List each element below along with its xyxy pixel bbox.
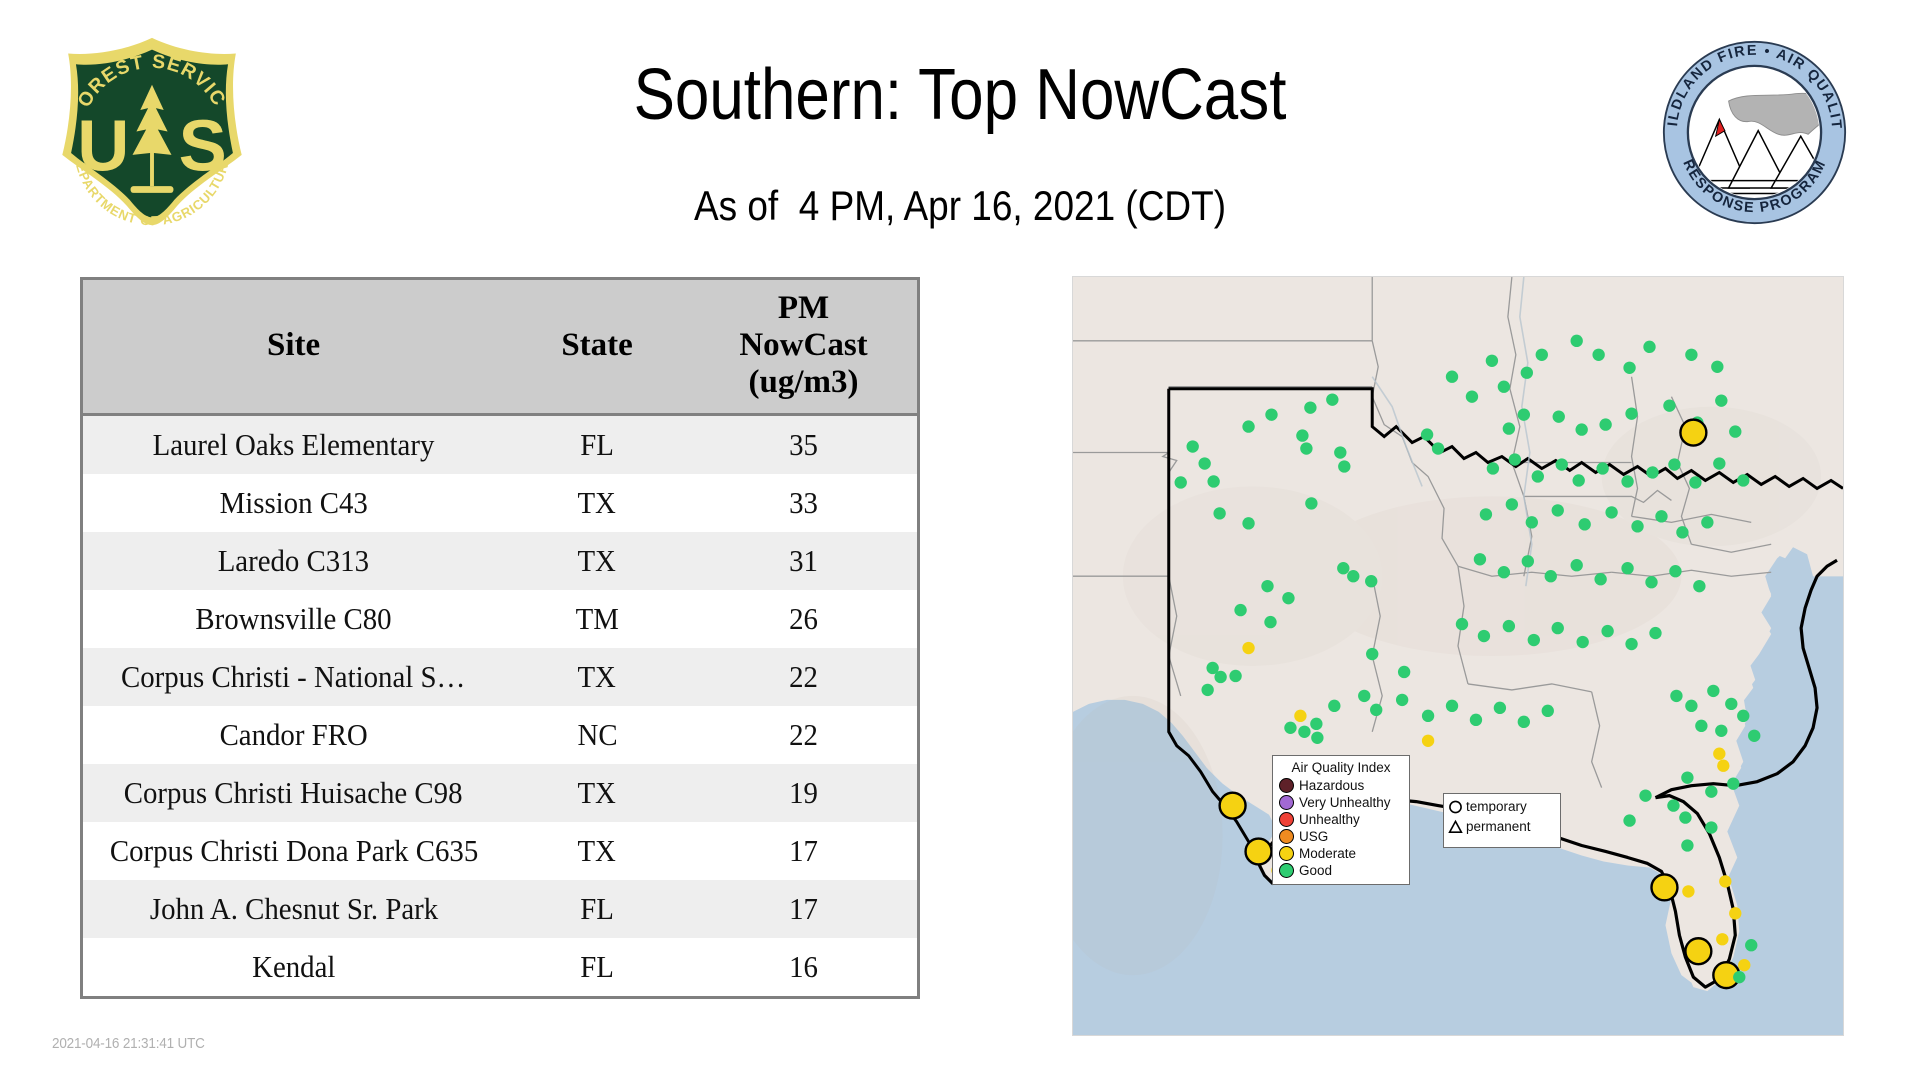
legend-temporary-label: temporary [1466, 800, 1527, 814]
aqi-legend-title: Air Quality Index [1279, 760, 1403, 775]
monitor-dot[interactable] [1737, 710, 1749, 722]
table-row: John A. Chesnut Sr. ParkFL17 [82, 880, 919, 938]
monitor-dot[interactable] [1242, 642, 1254, 654]
monitor-dot[interactable] [1532, 470, 1544, 482]
site-cell: Laredo C313 [82, 532, 505, 590]
aqi-legend-row: Good [1279, 862, 1403, 879]
monitor-dot[interactable] [1553, 410, 1565, 422]
monitor-dot[interactable] [1298, 726, 1310, 738]
page-subtitle: As of 4 PM, Apr 16, 2021 (CDT) [414, 182, 1505, 230]
monitor-dot[interactable] [1347, 570, 1359, 582]
monitor-dot[interactable] [1556, 458, 1568, 470]
monitor-dot[interactable] [1738, 959, 1750, 971]
monitor-dot[interactable] [1229, 670, 1241, 682]
aqi-legend-label: USG [1299, 830, 1328, 844]
monitor-dot[interactable] [1220, 793, 1246, 819]
monitor-dot[interactable] [1693, 580, 1705, 592]
state-cell: TM [504, 590, 690, 648]
table-row: Candor FRONC22 [82, 706, 919, 764]
monitor-dot[interactable] [1663, 399, 1675, 411]
monitor-dot[interactable] [1594, 573, 1606, 585]
monitor-dot[interactable] [1725, 698, 1737, 710]
monitor-dot[interactable] [1487, 462, 1499, 474]
monitor-dot[interactable] [1526, 516, 1538, 528]
monitor-dot[interactable] [1679, 811, 1691, 823]
aqi-swatch-unhealthy [1279, 812, 1294, 827]
monitor-dot[interactable] [1494, 702, 1506, 714]
monitor-dot[interactable] [1282, 592, 1294, 604]
value-cell: 35 [690, 414, 919, 474]
monitor-dot[interactable] [1689, 476, 1701, 488]
monitor-dot[interactable] [1284, 722, 1296, 734]
table-row: Mission C43TX33 [82, 474, 919, 532]
monitor-dot[interactable] [1486, 355, 1498, 367]
monitor-dot[interactable] [1398, 666, 1410, 678]
monitor-dot[interactable] [1422, 735, 1434, 747]
legend-permanent: permanent [1448, 817, 1556, 837]
legend-permanent-label: permanent [1466, 820, 1531, 834]
monitor-dot[interactable] [1715, 725, 1727, 737]
column-header-site: Site [82, 279, 505, 415]
circle-icon [1448, 799, 1463, 815]
monitor-dot[interactable] [1605, 506, 1617, 518]
state-cell: TX [504, 764, 690, 822]
state-cell: TX [504, 822, 690, 880]
value-cell: 26 [690, 590, 919, 648]
state-cell: TX [504, 648, 690, 706]
monitor-dot[interactable] [1521, 367, 1533, 379]
aqi-swatch-hazardous [1279, 778, 1294, 793]
monitor-dot[interactable] [1506, 498, 1518, 510]
site-cell: Brownsville C80 [82, 590, 505, 648]
aqi-legend-label: Moderate [1299, 847, 1356, 861]
aqi-legend-label: Very Unhealthy [1299, 796, 1391, 810]
state-cell: TX [504, 474, 690, 532]
monitor-dot[interactable] [1213, 507, 1225, 519]
table-row: Corpus Christi Huisache C98TX19 [82, 764, 919, 822]
aqi-legend: Air Quality Index HazardousVery Unhealth… [1272, 755, 1410, 885]
monitor-dot[interactable] [1201, 684, 1213, 696]
monitor-dot[interactable] [1522, 555, 1534, 567]
monitor-dot[interactable] [1645, 576, 1657, 588]
monitor-dot[interactable] [1334, 446, 1346, 458]
monitor-dot[interactable] [1701, 516, 1713, 528]
monitor-dot[interactable] [1625, 638, 1637, 650]
site-type-legend: temporary permanent [1443, 793, 1561, 848]
monitor-dot[interactable] [1681, 771, 1693, 783]
monitor-dot[interactable] [1748, 730, 1760, 742]
monitor-dot[interactable] [1651, 874, 1677, 900]
monitor-dot[interactable] [1175, 476, 1187, 488]
monitor-dot[interactable] [1670, 690, 1682, 702]
monitor-dot[interactable] [1623, 814, 1635, 826]
monitor-dot[interactable] [1528, 634, 1540, 646]
monitor-dot[interactable] [1729, 425, 1741, 437]
monitor-dot[interactable] [1326, 393, 1338, 405]
aqi-legend-row: Very Unhealthy [1279, 794, 1403, 811]
monitor-dot[interactable] [1552, 622, 1564, 634]
monitor-dot[interactable] [1668, 458, 1680, 470]
monitor-dot[interactable] [1198, 457, 1210, 469]
monitor-dot[interactable] [1685, 938, 1711, 964]
monitor-dot[interactable] [1366, 648, 1378, 660]
monitor-dot[interactable] [1480, 508, 1492, 520]
monitor-dot[interactable] [1552, 504, 1564, 516]
monitor-dot[interactable] [1545, 570, 1557, 582]
table-header-row: Site State PM NowCast (ug/m3) [82, 279, 919, 415]
monitor-dot[interactable] [1294, 710, 1306, 722]
site-cell: Corpus Christi - National S… [82, 648, 505, 706]
monitor-dot[interactable] [1261, 580, 1273, 592]
monitor-dot[interactable] [1518, 408, 1530, 420]
monitor-dot[interactable] [1695, 720, 1707, 732]
monitor-dot[interactable] [1446, 700, 1458, 712]
aqi-legend-row: Moderate [1279, 845, 1403, 862]
monitor-dot[interactable] [1685, 700, 1697, 712]
table-row: Laurel Oaks ElementaryFL35 [82, 414, 919, 474]
monitor-dot[interactable] [1470, 714, 1482, 726]
page-title: Southern: Top NowCast [427, 58, 1493, 134]
monitor-dot[interactable] [1599, 418, 1611, 430]
table-row: KendalFL16 [82, 938, 919, 998]
monitor-dot[interactable] [1623, 362, 1635, 374]
monitor-dot[interactable] [1681, 839, 1693, 851]
legend-temporary: temporary [1448, 797, 1556, 817]
aqi-legend-label: Hazardous [1299, 779, 1364, 793]
aqi-legend-row: USG [1279, 828, 1403, 845]
monitor-dot[interactable] [1264, 616, 1276, 628]
value-cell: 22 [690, 706, 919, 764]
aqi-swatch-very-unhealthy [1279, 795, 1294, 810]
triangle-icon [1448, 819, 1463, 835]
aqi-swatch-good [1279, 863, 1294, 878]
monitor-dot[interactable] [1621, 562, 1633, 574]
monitor-dot[interactable] [1338, 460, 1350, 472]
column-header-state: State [504, 279, 690, 415]
monitor-dot[interactable] [1621, 475, 1633, 487]
value-cell: 22 [690, 648, 919, 706]
monitor-dot[interactable] [1680, 420, 1706, 446]
monitor-dot[interactable] [1422, 710, 1434, 722]
monitor-dot[interactable] [1576, 636, 1588, 648]
table-row: Laredo C313TX31 [82, 532, 919, 590]
monitor-dot[interactable] [1478, 630, 1490, 642]
monitor-dot[interactable] [1655, 510, 1667, 522]
monitor-dot[interactable] [1466, 391, 1478, 403]
monitor-dot[interactable] [1682, 885, 1694, 897]
aqi-legend-label: Good [1299, 864, 1332, 878]
monitor-dot[interactable] [1596, 462, 1608, 474]
monitor-dot[interactable] [1456, 618, 1468, 630]
value-cell: 31 [690, 532, 919, 590]
monitor-dot[interactable] [1727, 777, 1739, 789]
monitor-dot[interactable] [1536, 349, 1548, 361]
aqi-legend-row: Unhealthy [1279, 811, 1403, 828]
air-quality-map[interactable] [1072, 276, 1844, 1036]
monitor-dot[interactable] [1432, 442, 1444, 454]
monitor-dot[interactable] [1625, 407, 1637, 419]
monitor-dot[interactable] [1498, 381, 1510, 393]
monitor-dot[interactable] [1713, 748, 1725, 760]
monitor-dot[interactable] [1310, 718, 1322, 730]
monitor-dot[interactable] [1396, 694, 1408, 706]
monitor-dot[interactable] [1713, 457, 1725, 469]
monitor-dot[interactable] [1474, 553, 1486, 565]
monitor-dot[interactable] [1578, 518, 1590, 530]
monitor-dot[interactable] [1207, 475, 1219, 487]
state-cell: FL [504, 938, 690, 998]
table-row: Corpus Christi - National S…TX22 [82, 648, 919, 706]
monitor-dot[interactable] [1328, 700, 1340, 712]
monitor-dot[interactable] [1509, 453, 1521, 465]
site-cell: John A. Chesnut Sr. Park [82, 880, 505, 938]
site-cell: Corpus Christi Huisache C98 [82, 764, 505, 822]
aqi-swatch-usg [1279, 829, 1294, 844]
table-body: Laurel Oaks ElementaryFL35Mission C43TX3… [82, 414, 919, 997]
monitor-dot[interactable] [1717, 760, 1729, 772]
nowcast-table: Site State PM NowCast (ug/m3) Laurel Oak… [80, 277, 920, 999]
site-cell: Corpus Christi Dona Park C635 [82, 822, 505, 880]
monitor-dot[interactable] [1715, 394, 1727, 406]
monitor-dot[interactable] [1711, 361, 1723, 373]
table-row: Brownsville C80TM26 [82, 590, 919, 648]
monitor-dot[interactable] [1639, 789, 1651, 801]
monitor-dot[interactable] [1745, 939, 1757, 951]
monitor-dot[interactable] [1649, 627, 1661, 639]
map-canvas [1073, 277, 1843, 1035]
monitor-dot[interactable] [1571, 559, 1583, 571]
footer-timestamp: 2021-04-16 21:31:41 UTC [52, 1035, 205, 1052]
monitor-dot[interactable] [1498, 566, 1510, 578]
value-cell: 19 [690, 764, 919, 822]
monitor-dot[interactable] [1446, 371, 1458, 383]
monitor-dot[interactable] [1716, 933, 1728, 945]
monitor-dot[interactable] [1575, 423, 1587, 435]
monitor-dot[interactable] [1300, 442, 1312, 454]
monitor-dot[interactable] [1719, 875, 1731, 887]
monitor-dot[interactable] [1358, 690, 1370, 702]
aqi-legend-label: Unhealthy [1299, 813, 1360, 827]
monitor-dot[interactable] [1705, 821, 1717, 833]
monitor-dot[interactable] [1646, 466, 1658, 478]
monitor-dot[interactable] [1214, 671, 1226, 683]
monitor-dot[interactable] [1242, 517, 1254, 529]
monitor-dot[interactable] [1265, 408, 1277, 420]
monitor-dot[interactable] [1573, 474, 1585, 486]
state-cell: FL [504, 414, 690, 474]
monitor-dot[interactable] [1311, 732, 1323, 744]
monitor-dot[interactable] [1669, 565, 1681, 577]
column-header-pm-nowcast: PM NowCast (ug/m3) [690, 279, 919, 415]
monitor-dot[interactable] [1667, 799, 1679, 811]
aqi-legend-rows: HazardousVery UnhealthyUnhealthyUSGModer… [1279, 777, 1403, 879]
monitor-dot[interactable] [1421, 428, 1433, 440]
monitor-dot[interactable] [1503, 620, 1515, 632]
monitor-dot[interactable] [1234, 604, 1246, 616]
value-cell: 16 [690, 938, 919, 998]
table-row: Corpus Christi Dona Park C635TX17 [82, 822, 919, 880]
monitor-dot[interactable] [1643, 341, 1655, 353]
monitor-dot[interactable] [1631, 520, 1643, 532]
monitor-dot[interactable] [1337, 562, 1349, 574]
nowcast-table-container: Site State PM NowCast (ug/m3) Laurel Oak… [80, 277, 920, 999]
aqi-legend-row: Hazardous [1279, 777, 1403, 794]
monitor-dot[interactable] [1304, 401, 1316, 413]
state-cell: FL [504, 880, 690, 938]
monitor-dot[interactable] [1187, 440, 1199, 452]
monitor-dot[interactable] [1503, 422, 1515, 434]
monitor-dot[interactable] [1370, 704, 1382, 716]
monitor-dot[interactable] [1305, 497, 1317, 509]
site-cell: Kendal [82, 938, 505, 998]
monitor-dot[interactable] [1296, 429, 1308, 441]
monitor-dot[interactable] [1571, 335, 1583, 347]
state-cell: TX [504, 532, 690, 590]
state-cell: NC [504, 706, 690, 764]
monitor-dot[interactable] [1518, 716, 1530, 728]
monitor-dot[interactable] [1733, 971, 1745, 983]
monitor-dot[interactable] [1246, 839, 1272, 865]
value-cell: 17 [690, 880, 919, 938]
forest-service-logo: FOREST SERVICE U S DEPARTMENT OF AGRICUL… [52, 34, 252, 229]
value-cell: 33 [690, 474, 919, 532]
monitor-dot[interactable] [1729, 907, 1741, 919]
wfaqrp-logo: WILDLAND FIRE • AIR QUALITY RESPONSE PRO… [1662, 40, 1847, 225]
monitor-dot[interactable] [1365, 575, 1377, 587]
site-cell: Candor FRO [82, 706, 505, 764]
monitor-dot[interactable] [1685, 349, 1697, 361]
value-cell: 17 [690, 822, 919, 880]
site-cell: Mission C43 [82, 474, 505, 532]
monitor-dot[interactable] [1542, 705, 1554, 717]
monitor-dot[interactable] [1592, 349, 1604, 361]
site-cell: Laurel Oaks Elementary [82, 414, 505, 474]
monitor-dot[interactable] [1737, 474, 1749, 486]
aqi-swatch-moderate [1279, 846, 1294, 861]
monitor-dot[interactable] [1601, 625, 1613, 637]
monitor-dot[interactable] [1707, 685, 1719, 697]
monitor-dot[interactable] [1705, 785, 1717, 797]
monitor-dot[interactable] [1242, 420, 1254, 432]
monitor-dot[interactable] [1676, 526, 1688, 538]
